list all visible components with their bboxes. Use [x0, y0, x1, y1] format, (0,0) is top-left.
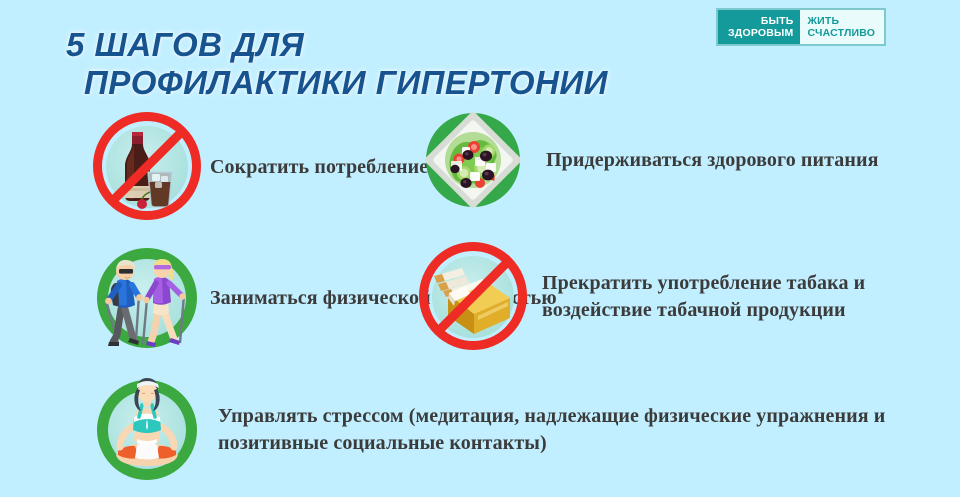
page-title-line-1: 5 ШАГОВ ДЛЯ	[66, 26, 706, 64]
nordic-walking-icon	[92, 243, 202, 353]
logo-left-panel: БЫТЬ ЗДОРОВЫМ	[718, 10, 800, 44]
logo-text-zdorovym: ЗДОРОВЫМ	[728, 27, 793, 39]
walker-woman	[143, 259, 186, 347]
prohibition-sign-icon	[419, 242, 527, 350]
infographic-poster: БЫТЬ ЗДОРОВЫМ ЖИТЬ СЧАСТЛИВО 5 ШАГОВ ДЛЯ…	[0, 0, 960, 497]
step-label-stress: Управлять стрессом (медитация, надлежащи…	[218, 403, 960, 457]
logo-text-zhit: ЖИТЬ	[807, 15, 839, 27]
step-label-tobacco: Прекратить употребление табака и воздейс…	[542, 270, 960, 324]
meditation-yoga-icon	[92, 375, 202, 485]
nordic-walkers-art	[92, 243, 202, 353]
step-item-stress: Управлять стрессом (медитация, надлежащи…	[92, 375, 960, 485]
step-item-tobacco: Прекратить употребление табака и воздейс…	[418, 242, 960, 352]
no-smoking-icon	[418, 242, 528, 352]
healthy-salad-icon	[418, 105, 528, 215]
step-item-nutrition: Придерживаться здорового питания	[418, 105, 879, 215]
walker-man	[105, 260, 143, 346]
page-title: 5 ШАГОВ ДЛЯ ПРОФИЛАКТИКИ ГИПЕРТОНИИ	[66, 26, 706, 102]
brand-logo: БЫТЬ ЗДОРОВЫМ ЖИТЬ СЧАСТЛИВО	[716, 8, 886, 46]
woman-lotus-pose-art	[92, 375, 202, 485]
logo-text-byt: БЫТЬ	[761, 15, 794, 27]
page-title-line-2: ПРОФИЛАКТИКИ ГИПЕРТОНИИ	[84, 64, 706, 102]
logo-right-panel: ЖИТЬ СЧАСТЛИВО	[800, 10, 884, 44]
step-label-nutrition: Придерживаться здорового питания	[546, 147, 879, 174]
prohibition-sign-icon	[93, 112, 201, 220]
no-alcohol-icon	[92, 112, 202, 222]
greek-salad-plate-art	[418, 105, 528, 215]
logo-text-schastlivo: СЧАСТЛИВО	[807, 27, 875, 39]
